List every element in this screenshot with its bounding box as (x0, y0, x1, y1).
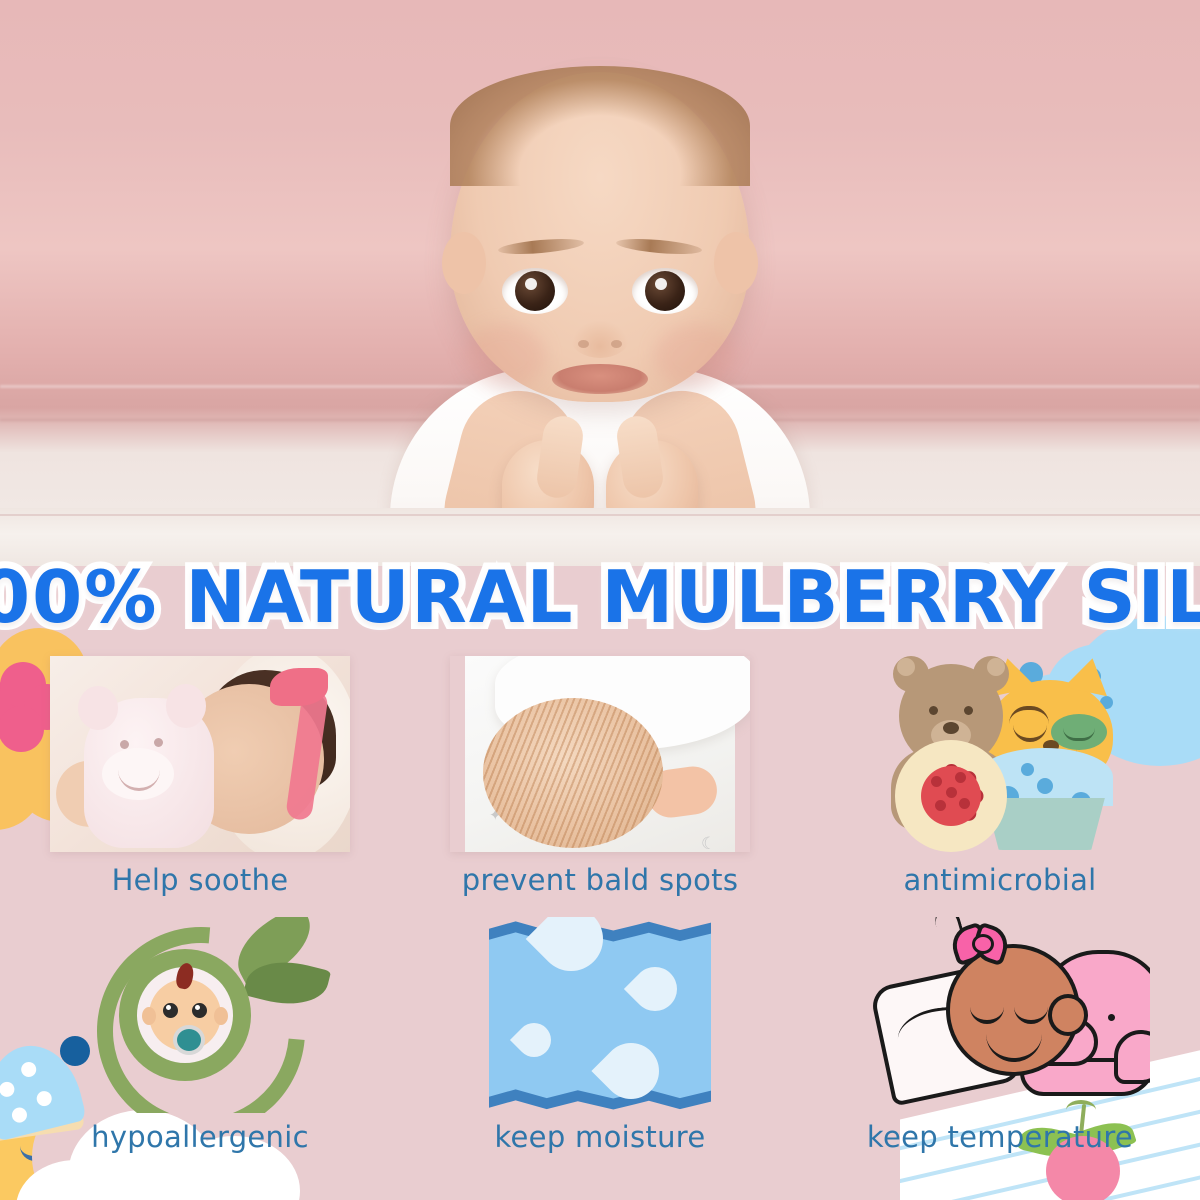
feature-label: antimicrobial (903, 866, 1096, 895)
baby-brow-right (616, 236, 703, 256)
baby-head (450, 72, 750, 402)
feature-grid: Help soothe ✦ ✦ ☾ ✦ ☾ ✦ (0, 656, 1200, 1152)
feature-row-bottom: hypoallergenic keep moisture (0, 895, 1200, 1152)
feature-hypoallergenic[interactable]: hypoallergenic (0, 917, 400, 1152)
feature-label: prevent bald spots (462, 866, 739, 895)
icon-sleeping-baby-pillow (850, 917, 1150, 1113)
baby-cheek-right (654, 324, 736, 388)
photo-baby-head-from-behind: ✦ ✦ ☾ ✦ ☾ ✦ (450, 656, 750, 852)
pink-bow-icon (952, 926, 1008, 956)
baby-face-icon (149, 979, 221, 1051)
feature-label: keep temperature (867, 1123, 1133, 1152)
feature-label: hypoallergenic (91, 1123, 309, 1152)
product-poster: 100% NATURAL MULBERRY SILK (0, 0, 1200, 1200)
icon-water-droplets-fabric (450, 917, 750, 1113)
feature-row-top: Help soothe ✦ ✦ ☾ ✦ ☾ ✦ (0, 656, 1200, 895)
photo-baby-with-plush-toy (50, 656, 350, 852)
hero-baby-illustration (390, 72, 810, 566)
baby-nostril-left (578, 340, 589, 348)
feature-keep-temperature[interactable]: keep temperature (800, 917, 1200, 1152)
baby-cheek-left (464, 324, 546, 388)
feature-label: Help soothe (112, 866, 289, 895)
feature-antimicrobial[interactable]: antimicrobial (800, 656, 1200, 895)
icon-baby-face-green-leaf-ring (50, 917, 350, 1113)
hero-photo (0, 0, 1200, 566)
feature-label: keep moisture (494, 1123, 705, 1152)
icon-teddy-cat-virus-bubbles (850, 656, 1150, 852)
feature-keep-moisture[interactable]: keep moisture (400, 917, 800, 1152)
baby-nose (571, 320, 629, 358)
baby-mouth (552, 364, 648, 394)
baby-nostril-right (611, 340, 622, 348)
baby-eye-right (632, 268, 698, 314)
virus-icon (895, 740, 1007, 852)
feature-prevent-bald-spots[interactable]: ✦ ✦ ☾ ✦ ☾ ✦ prevent bald spots (400, 656, 800, 895)
baby-ear-left (442, 232, 486, 294)
crib-rail (0, 508, 1200, 566)
baby-ear-right (714, 232, 758, 294)
feature-help-soothe[interactable]: Help soothe (0, 656, 400, 895)
baby-eye-left (502, 268, 568, 314)
baby-hair (450, 66, 750, 186)
baby-brow-left (498, 236, 585, 256)
